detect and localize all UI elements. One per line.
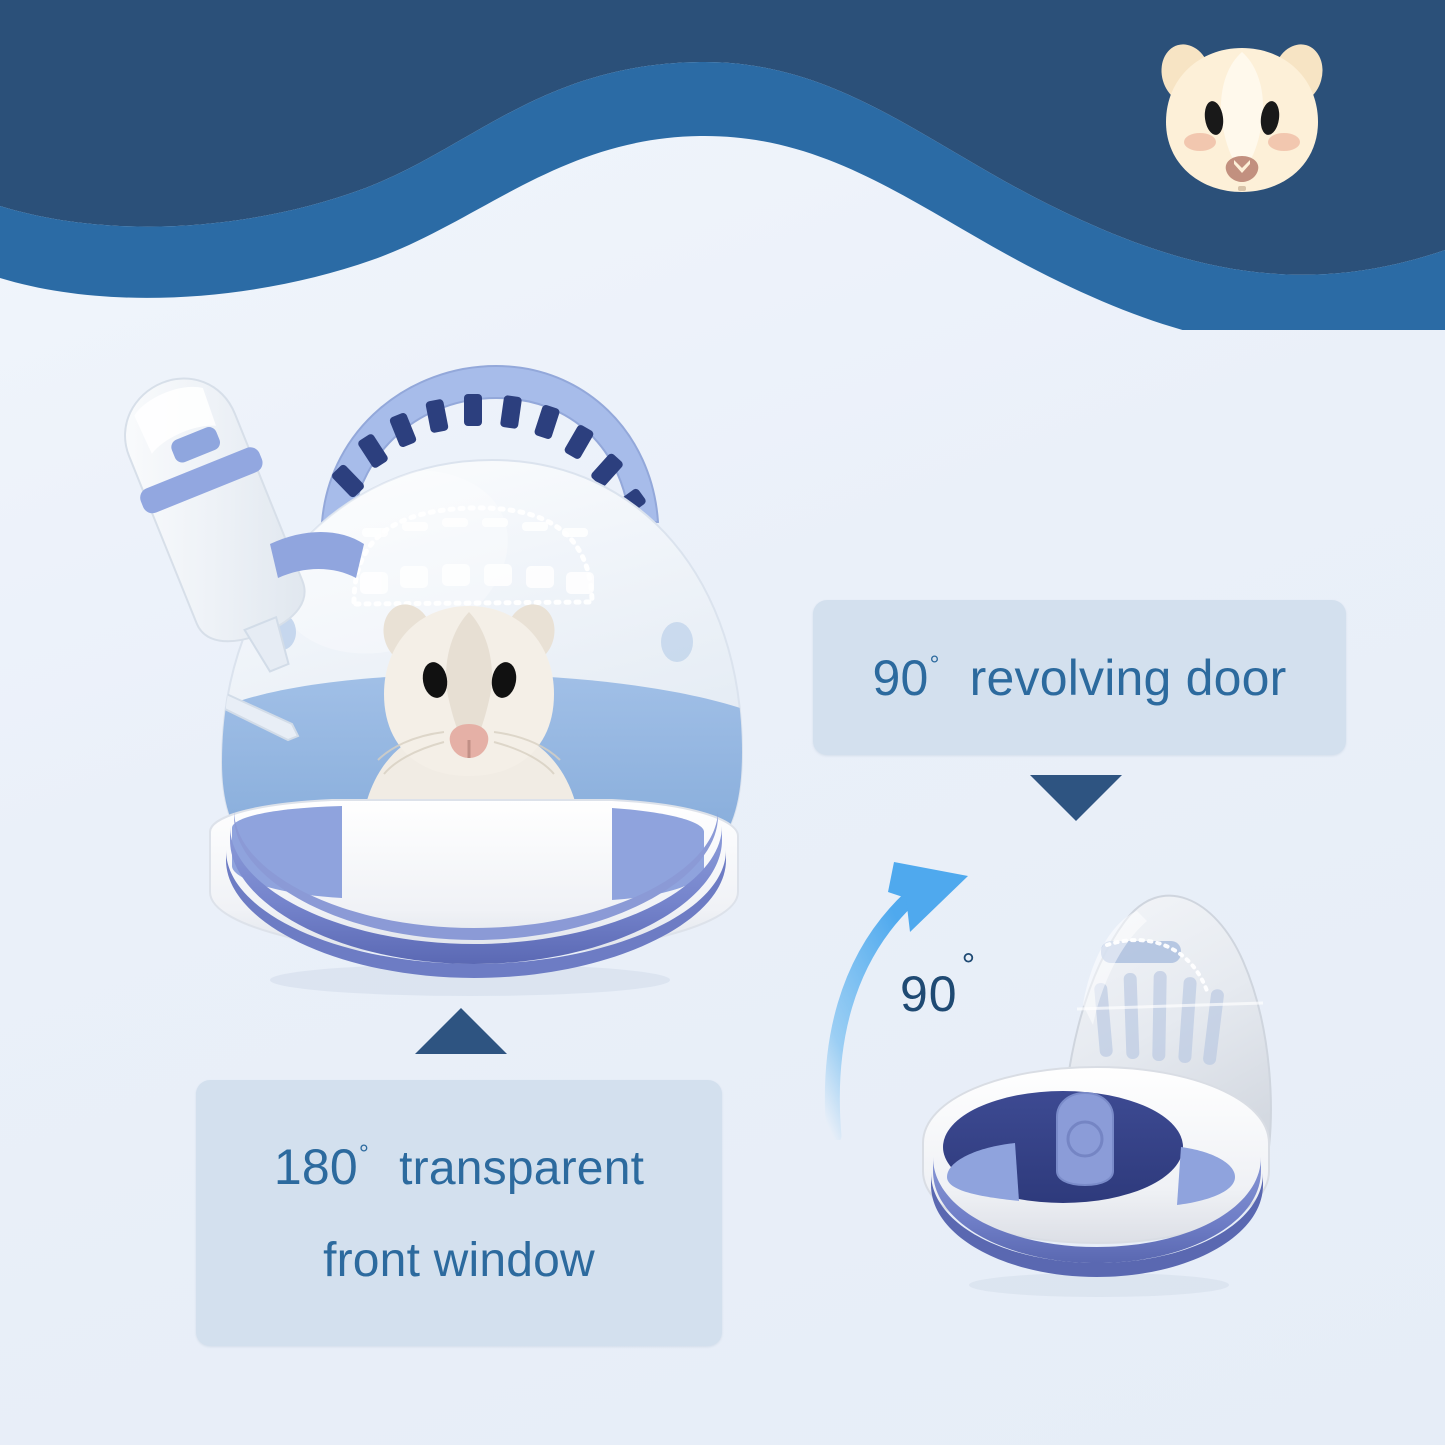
rotation-degrees-label: 90 ° <box>900 965 976 1023</box>
arc-arrowhead <box>888 862 968 932</box>
badge-line-window-1: 180°transparent <box>274 1142 644 1193</box>
hinge-knob <box>1057 1093 1113 1185</box>
window-degrees-value: 180 <box>274 1142 358 1192</box>
window-label-line1: transparent <box>399 1145 644 1193</box>
revolving-degrees-value: 90 <box>872 649 928 707</box>
hamster-mouth <box>1238 186 1246 191</box>
rotation-degree-symbol: ° <box>962 947 977 986</box>
pointer-triangle-down <box>1030 775 1122 821</box>
arc-path <box>832 898 910 1136</box>
infographic-canvas: 90 ° 90°revolving door 180°transparent f… <box>0 0 1445 1445</box>
rotation-degrees-value: 90 <box>900 965 958 1023</box>
pointer-triangle-up <box>415 1008 507 1054</box>
feature-badge-transparent-window[interactable]: 180°transparent front window <box>196 1080 722 1346</box>
hamster-face-icon <box>1142 30 1342 205</box>
product-image-carrier-closed <box>92 332 768 1008</box>
revolving-degree-symbol: ° <box>929 651 939 680</box>
hamster-cheek-left <box>1184 133 1216 151</box>
revolving-door-label: revolving door <box>970 649 1287 707</box>
window-label-line2: front window <box>323 1237 595 1285</box>
badge-line-revolving: 90°revolving door <box>872 649 1286 707</box>
feature-badge-revolving-door[interactable]: 90°revolving door <box>813 600 1346 755</box>
hamster-cheek-right <box>1268 133 1300 151</box>
window-degree-symbol: ° <box>359 1142 369 1167</box>
badge-line-window-2: front window <box>323 1237 595 1285</box>
